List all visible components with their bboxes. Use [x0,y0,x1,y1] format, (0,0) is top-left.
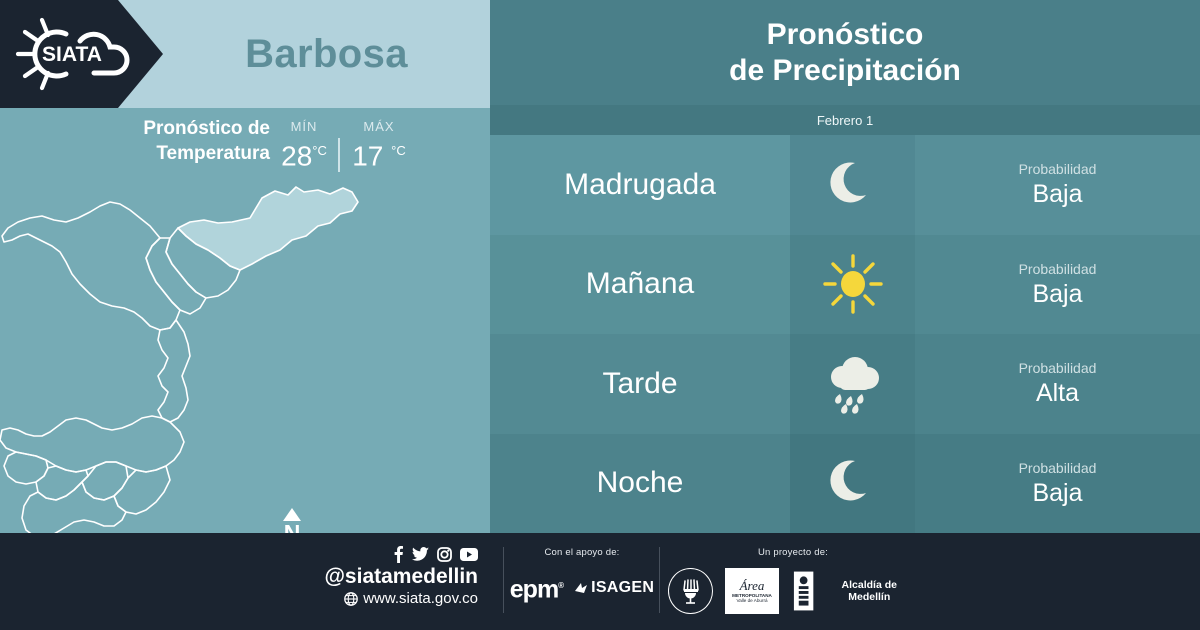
globe-icon [344,592,358,606]
area-metropolitana-logo: Área METROPOLITANA Valle de Aburrá [725,568,779,614]
forecast-period-cell: Noche [490,434,790,534]
temperature-min-value: 28°C [272,135,336,172]
social-block: @siatamedellin www.siata.gov.co [318,545,478,607]
forecast-date: Febrero 1 [817,113,873,128]
forecast-icon-cell [790,235,915,335]
siata-logo-banner: SIATA [0,0,163,108]
instagram-icon[interactable] [437,547,452,562]
probability-value: Baja [1032,478,1082,508]
forecast-icon-cell [790,135,915,235]
temperature-min-label: MÍN [272,118,336,135]
probability-label: Probabilidad [1019,160,1097,179]
probability-value: Alta [1036,378,1079,408]
left-header-bar: SIATA Barbosa [0,0,490,108]
map-region-barbosa [178,187,358,270]
project-caption: Un proyecto de: [668,547,918,558]
sun-cloud-icon: SIATA [14,14,136,94]
rain-cloud-icon [820,352,886,416]
universidad-antioquia-seal [668,568,713,614]
map-region-la-estrella [114,466,170,514]
map-region-medellin [0,416,184,472]
forecast-title-line2: de Precipitación [729,53,961,89]
forecast-probability-cell: Probabilidad Baja [915,135,1200,235]
forecast-period-label: Madrugada [564,168,716,202]
temperature-title-line1: Pronóstico de [143,118,270,139]
forecast-period-label: Mañana [586,267,694,301]
weather-forecast-infographic: SIATA Barbosa Pronóstico de Temperatura … [0,0,1200,630]
area-script-text: Área [740,579,765,593]
support-logos: epm® ISAGEN [512,574,652,602]
website-row[interactable]: www.siata.gov.co [318,590,478,607]
support-block: Con el apoyo de: epm® ISAGEN [512,547,652,602]
left-panel: SIATA Barbosa Pronóstico de Temperatura … [0,0,490,533]
temperature-title-line2: Temperatura [156,143,270,164]
forecast-icon-cell [790,334,915,434]
youtube-icon[interactable] [460,548,478,561]
forecast-row: Madrugada Probabilidad Baja [490,135,1200,235]
probability-value: Baja [1032,279,1082,309]
forecast-probability-cell: Probabilidad Alta [915,334,1200,434]
temperature-divider [338,138,340,172]
forecast-period-cell: Madrugada [490,135,790,235]
forecast-icon-cell [790,434,915,534]
forecast-rows: Madrugada Probabilidad Baja Mañana [490,135,1200,533]
moon-icon [822,452,884,514]
area-subtitle-2: Valle de Aburrá [736,598,767,603]
alcaldia-emblem-icon [791,569,816,613]
forecast-probability-cell: Probabilidad Baja [915,434,1200,534]
epm-logo: epm® [510,573,563,602]
temperature-max-unit: °C [391,143,406,158]
temperature-block: Pronóstico de Temperatura MÍN 28°C MÁX 1… [0,116,490,182]
temperature-max-label: MÁX [344,118,414,135]
udea-emblem-icon [675,576,705,606]
map-region-copacabana [146,238,206,314]
temperature-max-value: 17 °C [344,135,414,172]
forecast-date-band: Febrero 1 [490,105,1200,135]
siata-logo-text: SIATA [42,43,102,66]
forecast-period-cell: Tarde [490,334,790,434]
epm-registered-mark: ® [558,581,563,590]
isagen-mark-icon [573,580,589,596]
precipitation-forecast-panel: Pronóstico de Precipitación Febrero 1 Ma… [490,0,1200,533]
temperature-min: MÍN 28°C [272,118,336,172]
social-icons [318,545,478,563]
map-region-centre-strip [158,320,190,422]
probability-label: Probabilidad [1019,260,1097,279]
sun-icon [821,252,885,316]
forecast-probability-cell: Probabilidad Baja [915,235,1200,335]
forecast-period-label: Tarde [602,367,677,401]
forecast-period-cell: Mañana [490,235,790,335]
twitter-icon[interactable] [412,547,429,562]
footer-divider [659,547,660,613]
isagen-logo: ISAGEN [573,579,654,597]
facebook-icon[interactable] [393,546,404,563]
alcaldia-medellin-logo: Alcaldía de Medellín [791,569,918,613]
project-logos: Área METROPOLITANA Valle de Aburrá Alcal… [668,566,918,616]
municipality-map: N [0,178,490,533]
forecast-title-line1: Pronóstico [767,17,924,53]
website-url[interactable]: www.siata.gov.co [363,590,478,607]
project-block: Un proyecto de: [668,547,918,616]
probability-label: Probabilidad [1019,459,1097,478]
temperature-title: Pronóstico de Temperatura [60,116,270,166]
city-name: Barbosa [163,0,490,108]
temperature-max: MÁX 17 °C [344,118,414,172]
forecast-row: Mañana [490,235,1200,335]
alcaldia-name: Alcaldía de Medellín [820,579,918,603]
map-region-itagui [4,452,48,484]
probability-value: Baja [1032,179,1082,209]
support-caption: Con el apoyo de: [512,547,652,558]
forecast-header: Pronóstico de Precipitación [490,0,1200,105]
temperature-min-unit: °C [312,143,327,158]
footer-divider [503,547,504,613]
isagen-name: ISAGEN [591,579,654,597]
map-svg [0,178,490,533]
moon-icon [822,154,884,216]
forecast-row: Noche Probabilidad Baja [490,434,1200,534]
social-handle[interactable]: @siatamedellin [318,564,478,589]
footer: @siatamedellin www.siata.gov.co Con el a… [0,533,1200,630]
probability-label: Probabilidad [1019,359,1097,378]
forecast-row: Tarde [490,334,1200,434]
map-region-bello [2,202,180,330]
forecast-period-label: Noche [597,466,684,500]
